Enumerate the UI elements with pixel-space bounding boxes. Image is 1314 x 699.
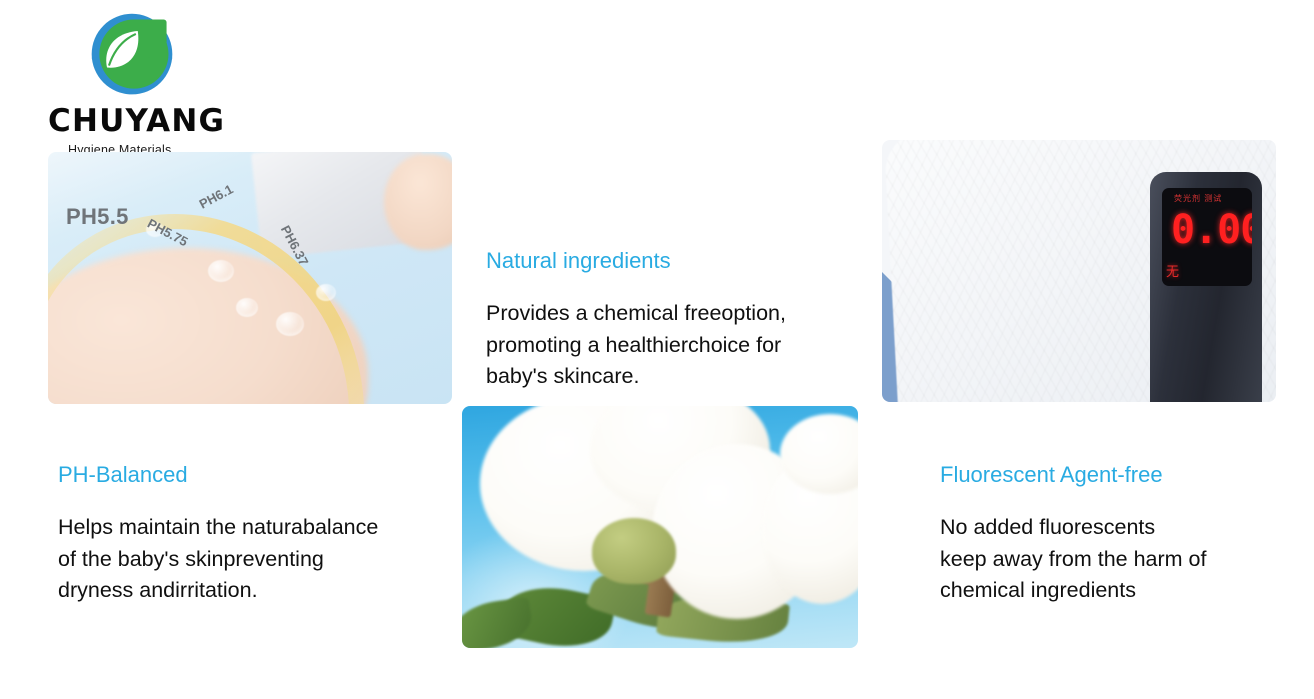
water-droplet	[208, 260, 234, 282]
chuyang-logo-icon	[74, 8, 190, 104]
ph-balance-image: PH5.5 PH5.75 PH6.1 PH6.37	[48, 152, 452, 404]
detector-screen: 荧光剂 测试 0.00 无	[1162, 188, 1252, 286]
cotton-image	[462, 406, 858, 648]
feature-title: Fluorescent Agent-free	[940, 462, 1280, 488]
feature-body: Helps maintain the naturabalance of the …	[58, 512, 458, 606]
water-droplet	[236, 298, 258, 317]
detector-device: 荧光剂 测试 0.00 无	[1150, 172, 1262, 402]
detector-unit-label: 无	[1166, 261, 1179, 280]
water-droplet	[316, 284, 336, 301]
ph-main-label: PH5.5	[66, 204, 129, 230]
feature-natural-ingredients: Natural ingredients Provides a chemical …	[486, 248, 866, 392]
cotton-bud	[592, 518, 676, 584]
feature-ph-balanced: PH-Balanced Helps maintain the naturabal…	[58, 462, 458, 606]
feature-title: PH-Balanced	[58, 462, 458, 488]
water-droplet	[276, 312, 304, 336]
brand-block: CHUYANG Hygiene Materials	[48, 8, 278, 157]
brand-name: CHUYANG	[48, 106, 278, 137]
fluorescent-detector-image: 荧光剂 测试 0.00 无	[882, 140, 1276, 402]
feature-fluorescent-agent-free: Fluorescent Agent-free No added fluoresc…	[940, 462, 1280, 606]
feature-body: No added fluorescents keep away from the…	[940, 512, 1280, 606]
feature-body: Provides a chemical freeoption, promotin…	[486, 298, 866, 392]
detector-screen-top-label: 荧光剂 测试	[1174, 193, 1222, 204]
detector-reading: 0.00	[1171, 210, 1252, 250]
feature-title: Natural ingredients	[486, 248, 866, 274]
ph-arc-graphic	[48, 164, 452, 404]
